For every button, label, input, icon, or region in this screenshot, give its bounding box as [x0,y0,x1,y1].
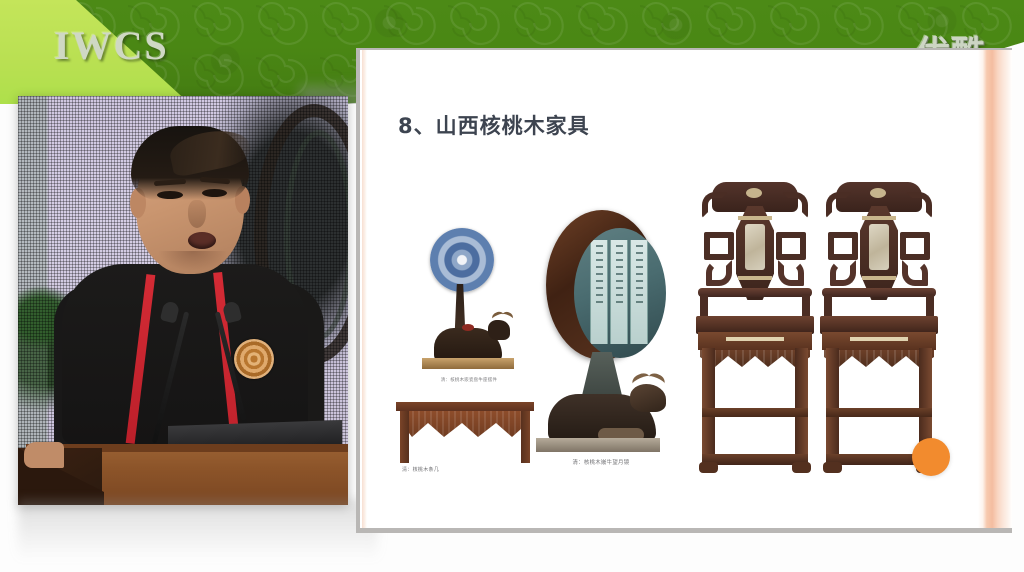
presenter-figure [18,96,348,505]
chair-crest-scroll-left [826,192,852,218]
chair-leg-left [702,348,715,466]
chair-square-fret-right [776,232,806,260]
oval-mirror-frame [546,210,658,360]
figure-caption-console-table: 清：核桃木条几 [402,466,522,475]
inlaid-round-plate [430,228,494,292]
slide-left-accent-border [362,50,367,528]
presenter-chin-shadow [158,251,228,271]
chair-scroll-carving-right [778,260,804,286]
mirror-calligraphy-panel-2 [610,240,628,344]
chair-marble-inlay [869,224,889,270]
iwcs-logo-text: IWCS [54,22,169,69]
video-bottom-fade [18,500,378,560]
chair-crest-medallion [746,188,762,198]
mirror-stand-base [536,438,660,452]
console-table-top [396,402,534,411]
oval-mirror-glass [574,228,666,358]
chair-crest-scroll-right [782,192,808,218]
chair-square-fret-left [828,232,858,260]
chair-arm-rail [698,288,812,297]
chair-foot-left [823,462,842,473]
figure-caption-mirror: 清：核桃木嵌牛望月镜 [528,458,674,468]
chair-square-fret-right [900,232,930,260]
chair-arm-rail [822,288,936,297]
presenter-mouth [188,232,216,249]
presentation-slide: 8、山西核桃木家具 清：核桃木嵌瓷盘牛座摆件 清：核桃木条几 [360,50,1010,528]
presenter-nose [188,200,206,228]
screenshot-root: IWCS 优酷 [0,0,1024,572]
chair-stretcher-mid [702,408,808,417]
chair-splat-band-bottom [862,276,896,280]
chair-scroll-carving-left [830,260,856,286]
figure-armchair-pair [696,176,946,476]
presenter-hand [24,442,64,468]
presenter-left-eye [157,191,183,199]
chair-foot-right [792,462,811,473]
chair-skirt-inlay [850,337,908,341]
figure-ox-gazing-moon-mirror: 清：核桃木嵌牛望月镜 [528,202,674,474]
chair-foot-left [699,462,718,473]
chair-marble-inlay [745,224,765,270]
armchair-right [820,176,938,476]
chair-splat-band-bottom [738,276,772,280]
chair-leg-right [795,348,808,466]
slide-title: 8、山西核桃木家具 [398,110,590,140]
figure-console-table: 清：核桃木条几 [396,402,534,472]
figure-plate-on-ox-stand: 清：核桃木嵌瓷盘牛座摆件 [402,228,522,380]
chair-skirt-inlay [726,337,784,341]
ox-red-saddle-detail [462,324,474,331]
chair-crest-scroll-left [702,192,728,218]
chair-apron-carving [700,350,810,368]
chair-stretcher-mid [826,408,932,417]
chair-crest-medallion [870,188,886,198]
slide-right-accent-border [978,50,1012,528]
slide-decoration-dot [912,438,950,476]
chair-splat-band-top [738,216,772,220]
presenter-video-panel [18,96,348,505]
console-table-carved-apron [400,411,530,441]
chair-crest-scroll-right [906,192,932,218]
chair-square-fret-left [704,232,734,260]
ox-head [488,320,510,340]
armchair-left [696,176,814,476]
chair-scroll-carving-right [902,260,928,286]
chair-splat-band-top [862,216,896,220]
mirror-calligraphy-panel-1 [590,240,608,344]
presenter-right-eye [202,189,227,197]
ox-stand-base [422,358,514,369]
figure-caption-plate-ox: 清：核桃木嵌瓷盘牛座摆件 [414,377,524,386]
mirror-calligraphy-panel-3 [630,240,648,344]
chair-scroll-carving-left [706,260,732,286]
tree-ring-logo-badge [234,339,274,379]
chair-apron-carving [824,350,934,368]
console-table-leg-left [400,411,409,463]
chair-leg-left [826,348,839,466]
